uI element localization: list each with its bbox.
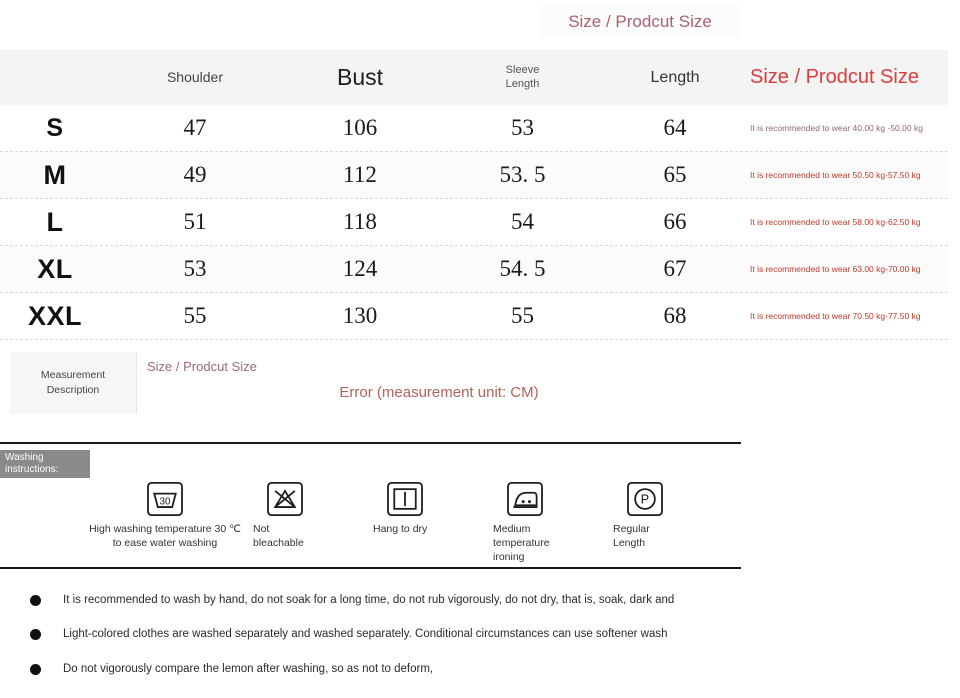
washing-badge-line2: instructions: [5, 464, 58, 475]
size-label: L [47, 207, 64, 238]
cell-length: 64 [605, 105, 745, 151]
table-row: S 47 106 53 64 It is recommended to wear… [0, 105, 948, 152]
svg-text:P: P [641, 492, 649, 506]
washing-instructions-badge: Washing instructions: [0, 450, 90, 478]
header-recommendation-label: Size / Prodcut Size [750, 66, 919, 89]
care-label-iron-medium: Medium temperature ironing [493, 522, 557, 565]
cell-sleeve: 54 [440, 199, 605, 245]
header-sleeve-line1: Sleeve [506, 64, 540, 76]
shoulder-value: 53 [184, 256, 207, 282]
note-text: Light-colored clothes are washed separat… [63, 626, 668, 643]
care-notes-list: It is recommended to wash by hand, do no… [30, 592, 730, 695]
cell-sleeve: 53 [440, 105, 605, 151]
recommendation-text: It is recommended to wear 58.00 kg-62.50… [750, 216, 921, 228]
cell-length: 66 [605, 199, 745, 245]
size-label: M [44, 160, 67, 191]
cell-shoulder: 49 [110, 152, 280, 198]
cell-recommendation: It is recommended to wear 40.00 kg -50.0… [745, 105, 948, 151]
note-text: It is recommended to wash by hand, do no… [63, 592, 674, 609]
cell-recommendation: It is recommended to wear 70.50 kg-77.50… [745, 293, 948, 339]
recommendation-text: It is recommended to wear 63.00 kg-70.00… [750, 263, 921, 275]
length-value: 65 [664, 162, 687, 188]
length-value: 67 [664, 256, 687, 282]
header-shoulder-label: Shoulder [167, 69, 223, 85]
header-length-label: Length [651, 69, 700, 87]
table-row: XXL 55 130 55 68 It is recommended to we… [0, 293, 948, 340]
cell-shoulder: 53 [110, 246, 280, 292]
measurement-label-line2: Description [47, 384, 100, 396]
care-item-iron-medium: Medium temperature ironing [465, 482, 585, 565]
top-caption: Size / Prodcut Size [540, 6, 740, 38]
sleeve-value: 53. 5 [500, 162, 546, 188]
cell-shoulder: 51 [110, 199, 280, 245]
measurement-title: Size / Prodcut Size [147, 359, 257, 374]
header-length: Length [605, 50, 745, 105]
care-label-no-bleach: Not bleachable [253, 522, 317, 550]
svg-text:30: 30 [160, 496, 171, 507]
cell-length: 65 [605, 152, 745, 198]
table-header-row: Shoulder Bust Sleeve Length Length Size … [0, 50, 948, 105]
washing-badge-text: Washing instructions: [5, 452, 58, 477]
cell-shoulder: 55 [110, 293, 280, 339]
cell-recommendation: It is recommended to wear 58.00 kg-62.50… [745, 199, 948, 245]
header-sleeve-line2: Length [506, 78, 540, 90]
sleeve-value: 55 [511, 303, 534, 329]
wash-tub-30-icon: 30 [147, 482, 183, 516]
header-shoulder: Shoulder [110, 50, 280, 105]
cell-sleeve: 54. 5 [440, 246, 605, 292]
list-item: Light-colored clothes are washed separat… [30, 626, 730, 643]
measurement-description-content: Size / Prodcut Size Error (measurement u… [137, 352, 741, 414]
care-label-hang-to-dry: Hang to dry [373, 522, 437, 536]
bust-value: 106 [343, 115, 378, 141]
bullet-icon [30, 629, 41, 640]
cell-length: 68 [605, 293, 745, 339]
recommendation-text: It is recommended to wear 70.50 kg-77.50… [750, 310, 921, 322]
cell-bust: 112 [280, 152, 440, 198]
size-label: S [46, 114, 63, 143]
measurement-description-label: Measurement Description [10, 352, 137, 414]
bust-value: 124 [343, 256, 378, 282]
size-label: XXL [28, 301, 82, 332]
bullet-icon [30, 664, 41, 675]
bust-value: 130 [343, 303, 378, 329]
list-item: It is recommended to wash by hand, do no… [30, 592, 730, 609]
sleeve-value: 54 [511, 209, 534, 235]
cell-size: M [0, 152, 110, 198]
care-label-wash-30: High washing temperature 30 ℃ to ease wa… [85, 522, 245, 550]
table-row: M 49 112 53. 5 65 It is recommended to w… [0, 152, 948, 199]
shoulder-value: 55 [184, 303, 207, 329]
divider-bottom [0, 567, 741, 569]
length-value: 64 [664, 115, 687, 141]
cell-length: 67 [605, 246, 745, 292]
measurement-description-block: Measurement Description Size / Prodcut S… [10, 352, 741, 414]
cell-bust: 118 [280, 199, 440, 245]
shoulder-value: 51 [184, 209, 207, 235]
table-row: XL 53 124 54. 5 67 It is recommended to … [0, 246, 948, 293]
header-size [0, 50, 110, 105]
cell-size: XXL [0, 293, 110, 339]
care-item-dry-clean-p: P Regular Length [585, 482, 705, 550]
cell-bust: 106 [280, 105, 440, 151]
bust-value: 112 [343, 162, 377, 188]
measurement-error-note: Error (measurement unit: CM) [137, 384, 741, 401]
care-item-no-bleach: Not bleachable [225, 482, 345, 550]
cell-size: XL [0, 246, 110, 292]
cell-recommendation: It is recommended to wear 63.00 kg-70.00… [745, 246, 948, 292]
recommendation-text: It is recommended to wear 40.00 kg -50.0… [750, 122, 923, 134]
list-item: Do not vigorously compare the lemon afte… [30, 661, 730, 678]
measurement-label-line1: Measurement [41, 369, 105, 381]
cell-bust: 124 [280, 246, 440, 292]
header-sleeve-length-label: Sleeve Length [506, 64, 540, 92]
header-sleeve-length: Sleeve Length [440, 50, 605, 105]
bust-value: 118 [343, 209, 377, 235]
shoulder-value: 49 [184, 162, 207, 188]
shoulder-value: 47 [184, 115, 207, 141]
cell-sleeve: 53. 5 [440, 152, 605, 198]
sleeve-value: 53 [511, 115, 534, 141]
bullet-icon [30, 595, 41, 606]
washing-badge-line1: Washing [5, 452, 44, 463]
dry-clean-p-icon: P [627, 482, 663, 516]
length-value: 66 [664, 209, 687, 235]
header-bust: Bust [280, 50, 440, 105]
cell-recommendation: It is recommended to wear 50.50 kg-57.50… [745, 152, 948, 198]
hang-to-dry-icon [387, 482, 423, 516]
size-chart-table: Shoulder Bust Sleeve Length Length Size … [0, 50, 948, 340]
care-label-dry-clean-p: Regular Length [613, 522, 677, 550]
measurement-label-text: Measurement Description [41, 368, 105, 397]
cell-size: L [0, 199, 110, 245]
length-value: 68 [664, 303, 687, 329]
cell-shoulder: 47 [110, 105, 280, 151]
divider-top [0, 442, 741, 444]
recommendation-text: It is recommended to wear 50.50 kg-57.50… [750, 169, 921, 181]
header-recommendation: Size / Prodcut Size [745, 50, 948, 105]
cell-sleeve: 55 [440, 293, 605, 339]
care-symbols-row: 30 High washing temperature 30 ℃ to ease… [105, 482, 725, 565]
no-bleach-icon [267, 482, 303, 516]
sleeve-value: 54. 5 [500, 256, 546, 282]
iron-medium-icon [507, 482, 543, 516]
cell-bust: 130 [280, 293, 440, 339]
size-label: XL [37, 254, 73, 285]
care-item-wash-30: 30 High washing temperature 30 ℃ to ease… [105, 482, 225, 550]
note-text: Do not vigorously compare the lemon afte… [63, 661, 433, 678]
care-item-hang-to-dry: Hang to dry [345, 482, 465, 536]
header-bust-label: Bust [337, 64, 383, 91]
table-row: L 51 118 54 66 It is recommended to wear… [0, 199, 948, 246]
cell-size: S [0, 105, 110, 151]
